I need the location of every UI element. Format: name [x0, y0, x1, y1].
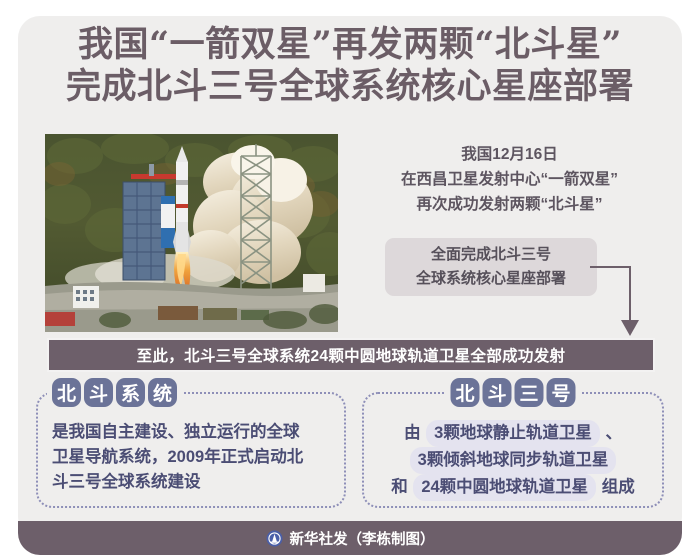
title-badge-char: 斗	[483, 378, 512, 407]
prefix-he: 和	[391, 478, 408, 496]
pill-meo-satellites: 24颗中圆地球轨道卫星	[413, 474, 596, 501]
card-right-body: 由 3颗地球静止轨道卫星 、 3颗倾斜地球同步轨道卫星 和 24颗中圆地球轨道卫…	[364, 420, 662, 501]
page-title: 我国“一箭双星”再发两颗“北斗星” 完成北斗三号全球系统核心星座部署	[18, 24, 682, 108]
card-left-body: 是我国自主建设、独立运行的全球 卫星导航系统，2009年正式启动北 斗三号全球系…	[38, 420, 344, 495]
title-badge-char: 三	[515, 378, 544, 407]
card-right-line-2: 3颗倾斜地球同步轨道卫星	[376, 447, 650, 474]
elbow-arrow-icon	[590, 258, 650, 343]
card-left-line-3: 斗三号全球系统建设	[52, 470, 332, 495]
callout-box: 全面完成北斗三号 全球系统核心星座部署	[385, 238, 597, 296]
title-badge-char: 号	[547, 378, 576, 407]
intro-line-3: 再次成功发射两颗“北斗星”	[352, 192, 667, 217]
headline-line-1: 我国“一箭双星”再发两颗“北斗星”	[78, 24, 622, 65]
intro-line-2: 在西昌卫星发射中心“一箭双星”	[352, 167, 667, 192]
card-beidou-3: 北 斗 三 号 由 3颗地球静止轨道卫星 、 3颗倾斜地球同步轨道卫星 和 24…	[362, 392, 664, 508]
rocket-launch-photo	[45, 134, 338, 332]
title-badge-char: 系	[116, 378, 145, 407]
card-right-title: 北 斗 三 号	[446, 378, 581, 407]
title-badge-char: 统	[148, 378, 177, 407]
footer-bar: 新华社发（李栋制图）	[18, 521, 682, 555]
card-right-line-3: 和 24颗中圆地球轨道卫星 组成	[376, 474, 650, 501]
summary-banner-text: 至此，北斗三号全球系统24颗中圆地球轨道卫星全部成功发射	[137, 344, 566, 366]
suffix-compose: 组成	[602, 478, 635, 496]
footer-text: 新华社发（李栋制图）	[290, 528, 435, 549]
summary-banner: 至此，北斗三号全球系统24颗中圆地球轨道卫星全部成功发射	[47, 338, 655, 372]
intro-line-1: 我国12月16日	[352, 142, 667, 167]
infographic-page: 我国“一箭双星”再发两颗“北斗星” 完成北斗三号全球系统核心星座部署	[0, 0, 700, 555]
xinhua-logo-icon	[266, 530, 283, 547]
title-badge-char: 斗	[84, 378, 113, 407]
card-beidou-system: 北 斗 系 统 是我国自主建设、独立运行的全球 卫星导航系统，2009年正式启动…	[36, 392, 346, 508]
callout-line-2: 全球系统核心星座部署	[416, 267, 566, 291]
card-right-line-1: 由 3颗地球静止轨道卫星 、	[376, 420, 650, 447]
title-badge-char: 北	[52, 378, 81, 407]
headline-line-2: 完成北斗三号全球系统核心星座部署	[18, 66, 682, 108]
suffix-comma: 、	[605, 424, 622, 442]
title-badge-char: 北	[451, 378, 480, 407]
card-left-line-2: 卫星导航系统，2009年正式启动北	[52, 445, 332, 470]
pill-geo-satellites: 3颗地球静止轨道卫星	[426, 420, 600, 447]
intro-text: 我国12月16日 在西昌卫星发射中心“一箭双星” 再次成功发射两颗“北斗星”	[352, 142, 667, 217]
callout-line-1: 全面完成北斗三号	[431, 243, 551, 267]
pill-igso-satellites: 3颗倾斜地球同步轨道卫星	[410, 447, 617, 474]
card-left-title: 北 斗 系 统	[47, 378, 182, 407]
prefix-you: 由	[404, 424, 421, 442]
card-left-line-1: 是我国自主建设、独立运行的全球	[52, 420, 332, 445]
